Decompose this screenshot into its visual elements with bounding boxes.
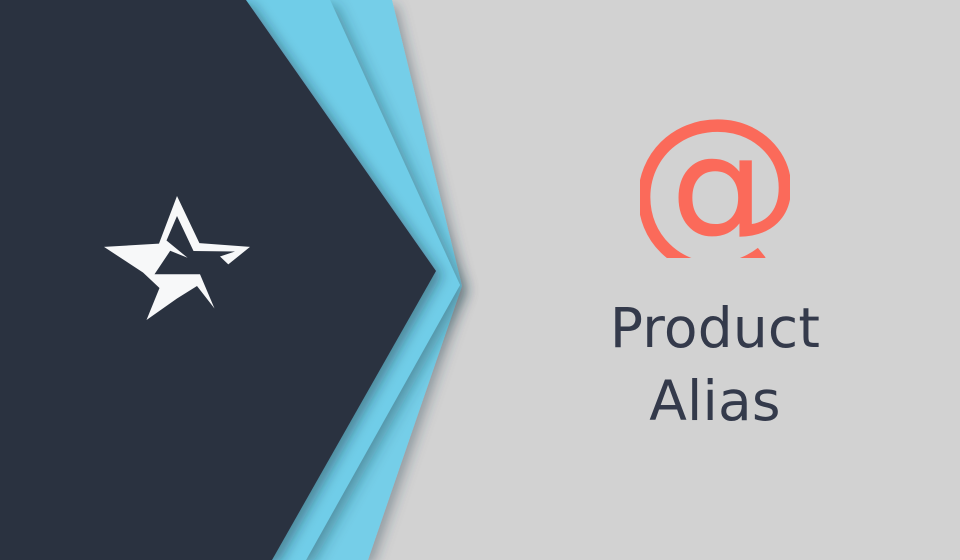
slide-canvas: @ Product Alias [0,0,960,560]
right-content-panel: @ Product Alias [470,0,960,560]
page-title: Product Alias [610,292,820,438]
logo-container [104,196,250,328]
at-symbol-icon: @ [640,108,790,258]
star-logo-icon [104,196,250,328]
page-title-line-1: Product [610,292,820,365]
svg-text:@: @ [640,108,790,258]
page-title-line-2: Alias [610,365,820,438]
